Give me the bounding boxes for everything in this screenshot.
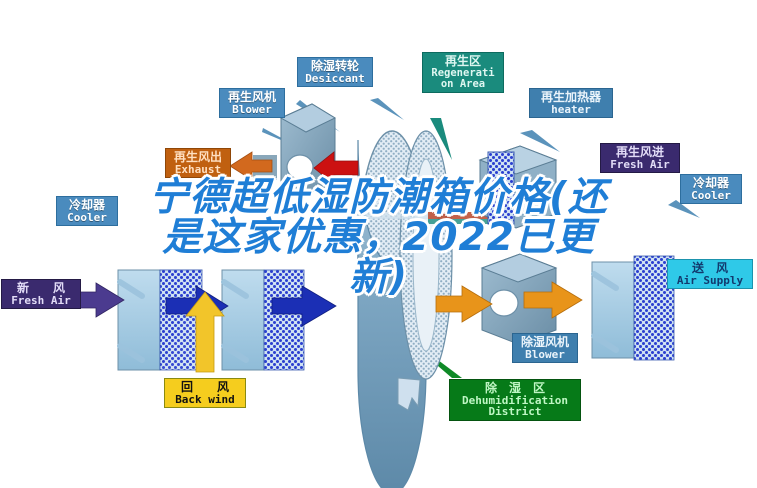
label-dehumidification-district: 除 湿 区 Dehumidification District <box>449 379 581 421</box>
label-cooler-right: 冷却器 Cooler <box>680 174 742 204</box>
heater-block <box>480 146 556 228</box>
label-dehumidification-blower: 除湿风机 Blower <box>512 333 578 363</box>
diagram-artwork <box>0 0 757 488</box>
cooler-coil-right <box>222 270 304 370</box>
label-back-wind: 回 风 Back wind <box>164 378 246 408</box>
fresh-air-arrow <box>74 283 124 317</box>
label-regeneration-area: 再生区 Regenerati on Area <box>422 52 504 93</box>
label-air-supply: 送 风 Air Supply <box>667 259 753 289</box>
label-fresh-air-inlet: 新 风 Fresh Air <box>1 279 81 309</box>
schematic-canvas: 除湿转轮 Desiccant 再生风机 Blower 再生区 Regenerat… <box>0 0 757 488</box>
label-desiccant-rotor: 除湿转轮 Desiccant <box>297 57 373 87</box>
label-cooler-left: 冷却器 Cooler <box>56 196 118 226</box>
label-regeneration-exhaust: 再生风出 Exhaust <box>165 148 231 178</box>
cooler-coil-left <box>118 270 202 370</box>
dehumidification-blower-housing <box>482 254 674 360</box>
label-regeneration-air-inlet: 再生风进 Fresh Air <box>600 143 680 173</box>
label-regeneration-heater: 再生加热器 heater <box>529 88 613 118</box>
label-regeneration-blower: 再生风机 Blower <box>219 88 285 118</box>
